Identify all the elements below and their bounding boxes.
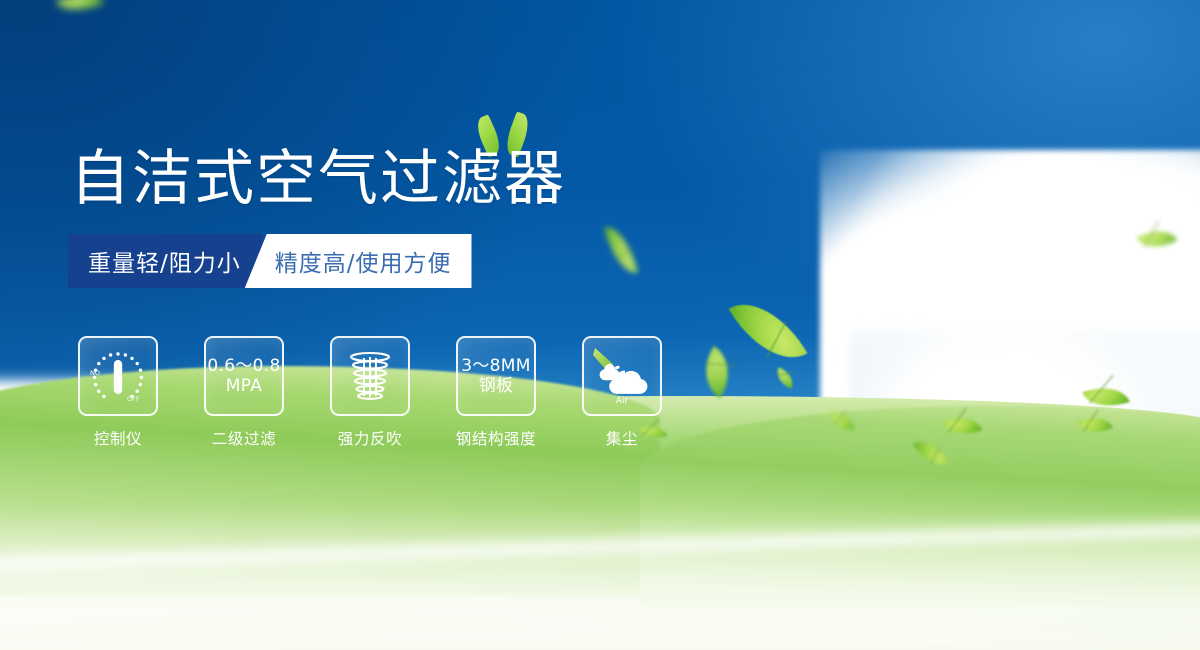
gauge-off-label: OFF [127, 395, 140, 403]
steel-thickness: 3～8MM [461, 356, 530, 376]
feature-label: 控制仪 [94, 427, 142, 449]
feature-item-dust: Air 集尘 [582, 336, 662, 449]
filter-cartridge-icon [339, 345, 401, 407]
feature-label: 集尘 [606, 427, 638, 449]
feature-list: NO OFF 控制仪 0.6～0.8 MPA 二级过滤 [78, 336, 662, 449]
gauge-dial-icon: NO OFF [87, 345, 149, 407]
feature-label: 二级过滤 [212, 427, 276, 449]
feature-item-controller: NO OFF 控制仪 [78, 336, 158, 449]
feature-item-steel: 3～8MM 钢板 钢结构强度 [456, 336, 536, 449]
tagline-secondary: 精度高/使用方便 [245, 234, 472, 288]
product-banner: 自洁式空气过滤器 重量轻/阻力小 精度高/使用方便 [0, 0, 1200, 650]
tagline-group: 重量轻/阻力小 精度高/使用方便 [68, 234, 472, 288]
feature-icon-box: Air [582, 336, 662, 416]
feature-item-two-stage: 0.6～0.8 MPA 二级过滤 [204, 336, 284, 449]
steel-plate-value-icon: 3～8MM 钢板 [461, 356, 530, 396]
air-caption: Air [616, 396, 629, 406]
feature-icon-box [330, 336, 410, 416]
pressure-value-icon: 0.6～0.8 MPA [207, 356, 280, 396]
feature-item-backblow: 强力反吹 [330, 336, 410, 449]
page-title: 自洁式空气过滤器 [70, 145, 566, 213]
feature-icon-box: NO OFF [78, 336, 158, 416]
tagline-primary: 重量轻/阻力小 [68, 234, 263, 288]
pressure-range: 0.6～0.8 [207, 356, 280, 376]
pressure-unit: MPA [207, 376, 280, 396]
gauge-on-label: NO [90, 369, 100, 377]
feature-icon-box: 3～8MM 钢板 [456, 336, 536, 416]
air-cloud-icon: Air [591, 345, 653, 407]
feature-label: 钢结构强度 [456, 427, 537, 449]
feature-icon-box: 0.6～0.8 MPA [204, 336, 284, 416]
banner-content: 自洁式空气过滤器 重量轻/阻力小 精度高/使用方便 [0, 0, 1200, 650]
feature-label: 强力反吹 [338, 427, 402, 449]
steel-material: 钢板 [461, 376, 530, 396]
